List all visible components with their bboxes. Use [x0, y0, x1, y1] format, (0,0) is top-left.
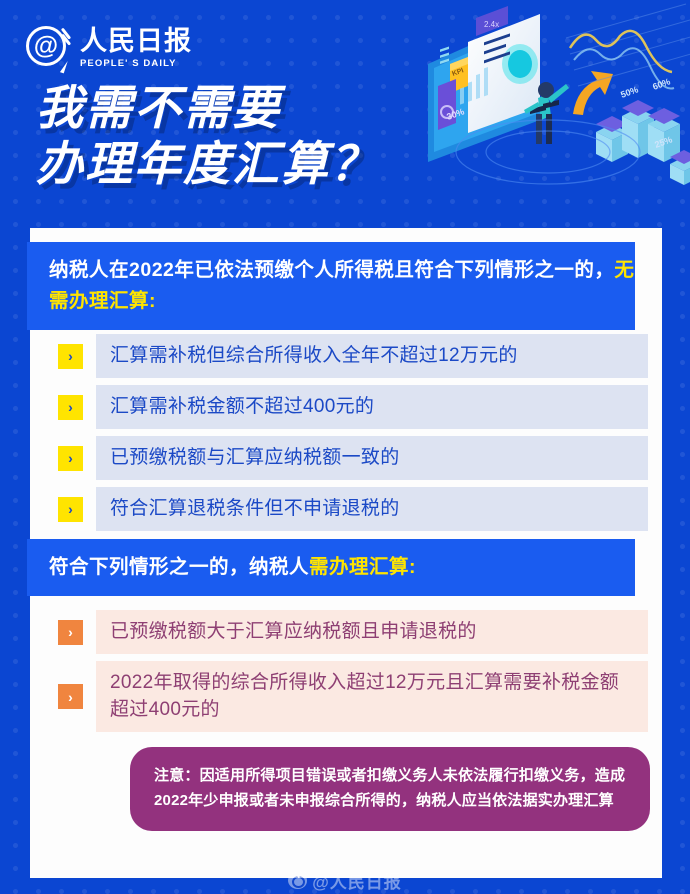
footer-handle: @人民日报 — [312, 868, 402, 893]
brand-logo: @ 人民日报 PEOPLE' S DAILY — [26, 26, 192, 69]
chevron-right-icon: › — [58, 395, 83, 420]
section-heading-need: 符合下列情形之一的，纳税人需办理汇算: — [27, 539, 635, 596]
list-item-label: 汇算需补税金额不超过400元的 — [96, 385, 648, 429]
section2-heading-highlight: 需办理汇算: — [309, 556, 416, 578]
page-title: 我需不需要 办理年度汇算？ — [36, 80, 379, 192]
bar-chart-3d — [596, 100, 690, 185]
signal-lines-icon — [62, 27, 75, 39]
content-card: 纳税人在2022年已依法预缴个人所得税且符合下列情形之一的，无需办理汇算: › … — [30, 228, 662, 878]
brand-name-en: PEOPLE' S DAILY — [80, 58, 192, 69]
list-item-label: 2022年取得的综合所得收入超过12万元且汇算需要补税金额超过400元的 — [96, 661, 648, 732]
brand-text: 人民日报 PEOPLE' S DAILY — [80, 26, 192, 69]
section1-heading-plain: 纳税人在2022年已依法预缴个人所得税且符合下列情形之一的， — [49, 259, 614, 281]
title-line-2: 办理年度汇算？ — [36, 136, 379, 192]
list-item[interactable]: › 已预缴税额大于汇算应纳税额且申请退税的 — [58, 610, 648, 654]
weibo-icon — [288, 872, 307, 889]
list-item[interactable]: › 2022年取得的综合所得收入超过12万元且汇算需要补税金额超过400元的 — [58, 661, 648, 732]
at-glyph: @ — [34, 32, 58, 60]
list-item[interactable]: › 符合汇算退税条件但不申请退税的 — [58, 487, 648, 531]
svg-text:50%: 50% — [619, 84, 639, 100]
list-item-label: 汇算需补税但综合所得收入全年不超过12万元的 — [96, 334, 648, 378]
brand-name-cn: 人民日报 — [80, 26, 192, 56]
illustration-isometric-dashboard: 2.4x — [398, 2, 690, 198]
list-no-need: › 汇算需补税但综合所得收入全年不超过12万元的 › 汇算需补税金额不超过400… — [58, 334, 648, 538]
chevron-right-icon: › — [58, 344, 83, 369]
title-line-1: 我需不需要 — [36, 80, 379, 136]
dashboard-screen — [428, 14, 540, 162]
note-box: 注意：因适用所得项目错误或者扣缴义务人未依法履行扣缴义务，造成2022年少申报或… — [130, 747, 650, 831]
chevron-right-icon: › — [58, 497, 83, 522]
list-item-label: 符合汇算退税条件但不申请退税的 — [96, 487, 648, 531]
chevron-right-icon: › — [58, 620, 83, 645]
list-item[interactable]: › 汇算需补税金额不超过400元的 — [58, 385, 648, 429]
section-heading-no-need: 纳税人在2022年已依法预缴个人所得税且符合下列情形之一的，无需办理汇算: — [27, 242, 635, 330]
line-graph — [566, 4, 690, 89]
svg-text:60%: 60% — [651, 76, 671, 92]
list-item[interactable]: › 已预缴税额与汇算应纳税额一致的 — [58, 436, 648, 480]
list-need: › 已预缴税额大于汇算应纳税额且申请退税的 › 2022年取得的综合所得收入超过… — [58, 610, 648, 739]
footer-watermark: @人民日报 — [0, 866, 690, 894]
chevron-right-icon: › — [58, 446, 83, 471]
chevron-right-icon: › — [58, 684, 83, 709]
list-item-label: 已预缴税额与汇算应纳税额一致的 — [96, 436, 648, 480]
svg-text:2.4x: 2.4x — [484, 20, 499, 29]
section2-heading-plain: 符合下列情形之一的，纳税人 — [49, 556, 309, 578]
header: @ 人民日报 PEOPLE' S DAILY 我需不需要 办理年度汇算？ — [0, 0, 690, 228]
at-symbol-icon: @ — [26, 26, 66, 66]
list-item-label: 已预缴税额大于汇算应纳税额且申请退税的 — [96, 610, 648, 654]
list-item[interactable]: › 汇算需补税但综合所得收入全年不超过12万元的 — [58, 334, 648, 378]
